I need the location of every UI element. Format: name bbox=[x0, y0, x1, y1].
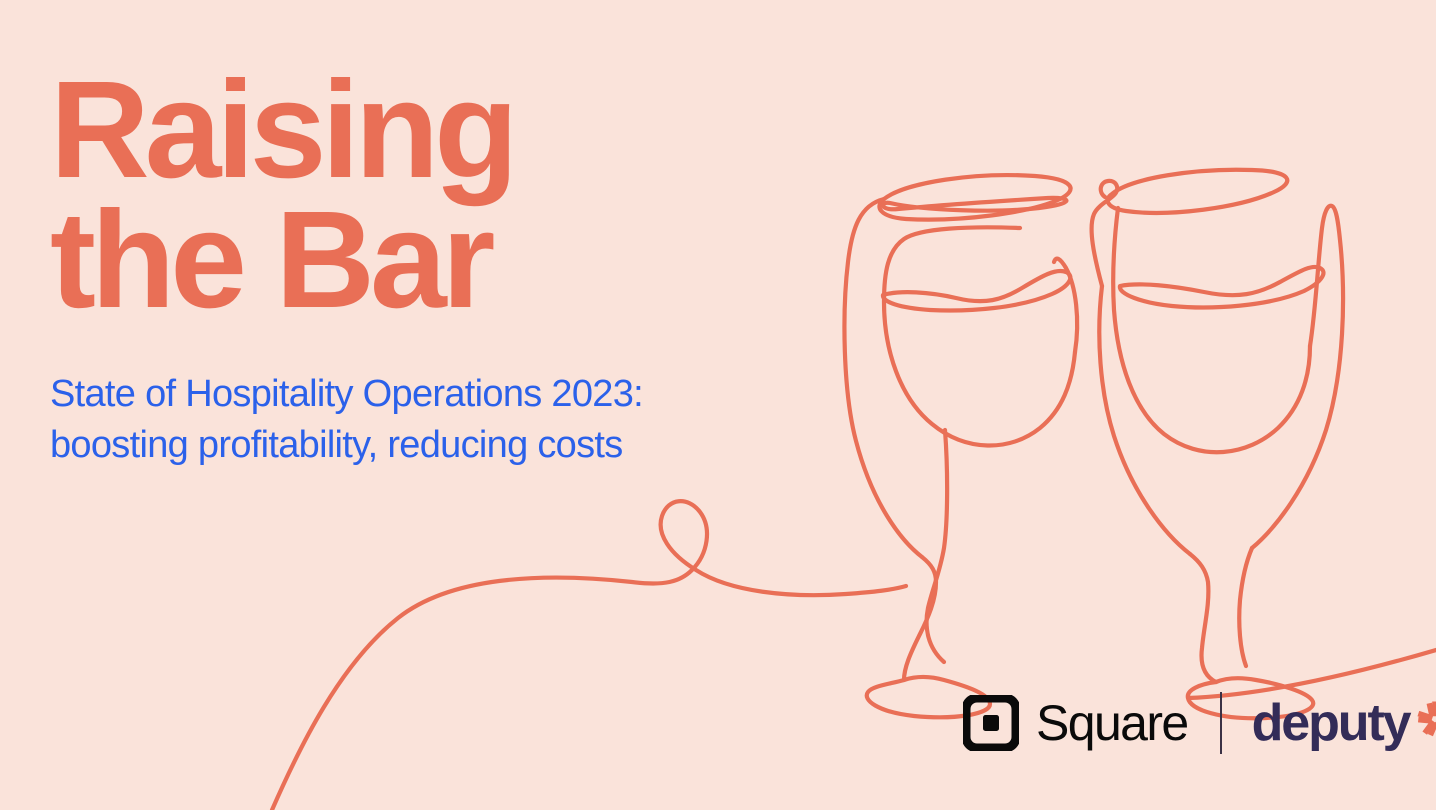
left-glass-rim-inner bbox=[883, 198, 1067, 211]
page-title: Raising the Bar bbox=[50, 66, 770, 325]
deputy-pinwheel-icon bbox=[1414, 698, 1436, 740]
left-glass-stem-right bbox=[927, 430, 948, 662]
left-glass-rim-outer bbox=[879, 175, 1070, 219]
left-glass-inner-bowl bbox=[884, 227, 1075, 445]
square-logo-mark bbox=[963, 695, 1019, 751]
deputy-wordmark: deputy bbox=[1252, 697, 1410, 749]
right-glass-rim-outer bbox=[1108, 170, 1288, 213]
right-glass-stem-left bbox=[1190, 554, 1216, 682]
right-glass-outer-right bbox=[1252, 206, 1343, 548]
ribbon-line-main-sweep bbox=[272, 501, 906, 810]
deputy-logo: deputy bbox=[1252, 697, 1436, 749]
page-subtitle: State of Hospitality Operations 2023: bo… bbox=[50, 325, 770, 469]
right-glass-wine-line bbox=[1120, 267, 1324, 308]
left-glass-outer-right bbox=[1054, 259, 1077, 352]
left-glass-outer-left bbox=[844, 199, 922, 557]
square-wordmark: Square bbox=[1036, 698, 1188, 748]
logo-lockup: Square deputy bbox=[963, 692, 1436, 754]
square-logo: Square bbox=[963, 695, 1188, 751]
left-glass-stem-left bbox=[904, 557, 936, 680]
ribbon-line-right-tail bbox=[1188, 650, 1436, 698]
left-glass-wine-line bbox=[883, 271, 1070, 311]
logo-divider bbox=[1220, 692, 1222, 754]
right-glass-stem-right bbox=[1239, 548, 1252, 666]
right-glass-top-knot bbox=[1092, 181, 1118, 286]
hero-text-block: Raising the Bar State of Hospitality Ope… bbox=[50, 66, 770, 470]
report-cover: Raising the Bar State of Hospitality Ope… bbox=[0, 0, 1436, 810]
right-glass-inner-bowl bbox=[1113, 208, 1310, 452]
right-glass-outer-left bbox=[1099, 286, 1190, 554]
